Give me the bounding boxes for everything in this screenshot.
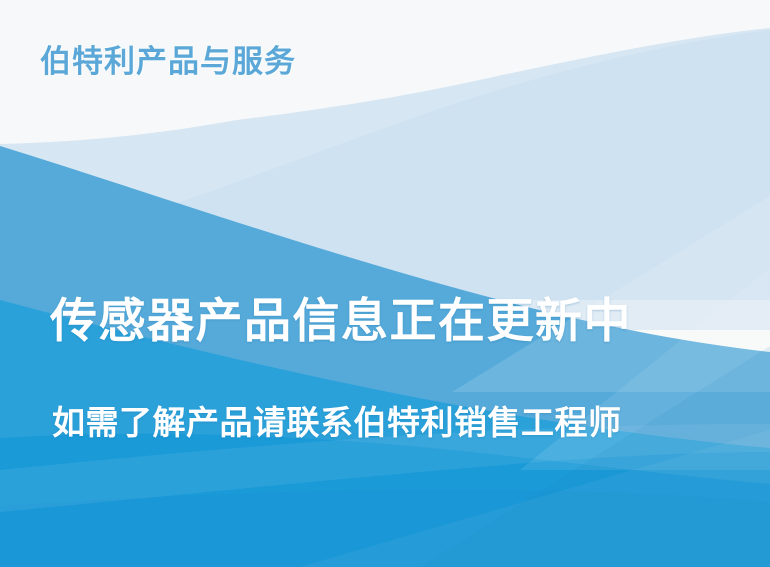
banner-content: 伯特利产品与服务 传感器产品信息正在更新中 如需了解产品请联系伯特利销售工程师: [0, 0, 770, 567]
brand-title: 伯特利产品与服务: [40, 46, 296, 77]
page-subheadline: 如需了解产品请联系伯特利销售工程师: [52, 406, 622, 439]
product-service-banner: 伯特利产品与服务 传感器产品信息正在更新中 如需了解产品请联系伯特利销售工程师: [0, 0, 770, 567]
page-headline: 传感器产品信息正在更新中: [50, 297, 632, 344]
